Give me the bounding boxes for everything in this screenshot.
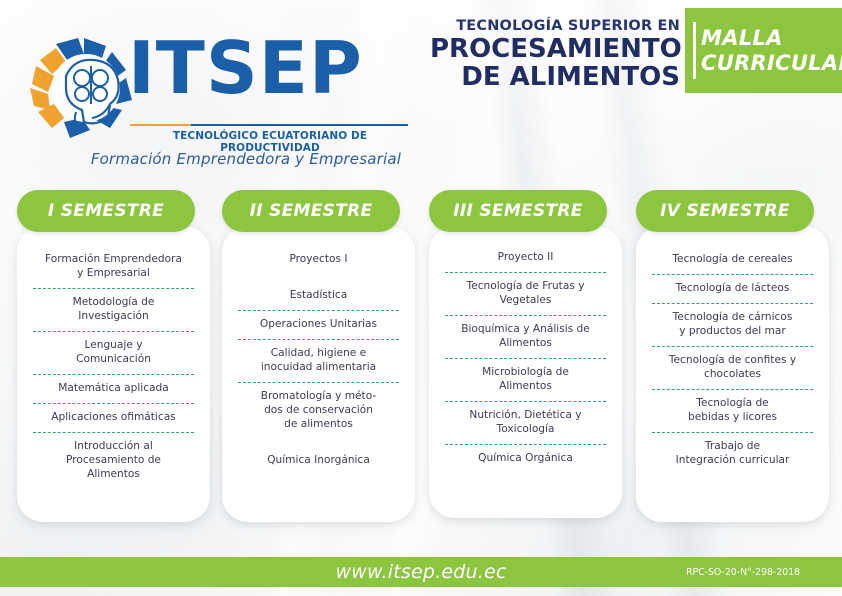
course-item: Tecnología debebidas y licores <box>646 392 819 430</box>
semester-column-3: III SEMESTRE Proyecto IITecnología de Fr… <box>429 190 622 232</box>
gear-head-brain-icon <box>26 34 142 146</box>
semester-column-1: I SEMESTRE Formación Emprendedoray Empre… <box>17 190 210 232</box>
badge-line1: MALLA <box>701 26 842 51</box>
course-item: Introducción alProcesamiento deAlimentos <box>27 435 200 487</box>
malla-curricular-badge: MALLA CURRICULAR <box>685 8 842 93</box>
course-item: Química Inorgánica <box>232 449 405 473</box>
course-spacer <box>232 272 405 284</box>
course-divider <box>652 303 813 304</box>
course-item: Estadística <box>232 284 405 308</box>
course-divider <box>238 339 399 340</box>
course-divider <box>445 315 606 316</box>
course-item: Tecnología de confites ychocolates <box>646 349 819 387</box>
semester-column-4: IV SEMESTRE Tecnología de cerealesTecnol… <box>636 190 829 232</box>
course-item: Química Orgánica <box>439 447 612 471</box>
course-item: Aplicaciones ofimáticas <box>27 406 200 430</box>
course-divider <box>33 331 194 332</box>
course-divider <box>652 389 813 390</box>
course-item: Metodología deInvestigación <box>27 291 200 329</box>
badge-line2: CURRICULAR <box>701 51 842 76</box>
semester-columns: I SEMESTRE Formación Emprendedoray Empre… <box>0 190 842 540</box>
brand-wordmark: ITSEP <box>128 32 363 104</box>
course-item: Proyecto II <box>439 246 612 270</box>
course-item: Tecnología de cárnicosy productos del ma… <box>646 306 819 344</box>
header: ITSEP TECNOLÓGICO ECUATORIANO DE PRODUCT… <box>0 0 842 180</box>
course-divider <box>33 288 194 289</box>
course-divider <box>445 358 606 359</box>
course-item: Trabajo deIntegración curricular <box>646 435 819 473</box>
course-item: Tecnología de cereales <box>646 248 819 272</box>
program-kicker: TECNOLOGÍA SUPERIOR EN <box>430 18 680 35</box>
course-item: Nutrición, Dietética yToxicología <box>439 404 612 442</box>
course-item: Tecnología de lácteos <box>646 277 819 301</box>
course-item: Matemática aplicada <box>27 377 200 401</box>
course-item: Bromatología y méto-dos de conservaciónd… <box>232 385 405 437</box>
program-title: TECNOLOGÍA SUPERIOR EN PROCESAMIENTO DE … <box>430 18 680 92</box>
program-title-line1: PROCESAMIENTO <box>430 35 680 63</box>
semester-card-1: Formación Emprendedoray EmpresarialMetod… <box>17 226 210 522</box>
course-divider <box>445 272 606 273</box>
semester-pill-3[interactable]: III SEMESTRE <box>429 190 607 232</box>
course-divider <box>238 310 399 311</box>
semester-pill-4[interactable]: IV SEMESTRE <box>636 190 814 232</box>
course-item: Tecnología de Frutas yVegetales <box>439 275 612 313</box>
course-divider <box>33 432 194 433</box>
semester-card-3: Proyecto IITecnología de Frutas yVegetal… <box>429 226 622 518</box>
semester-pill-2[interactable]: II SEMESTRE <box>222 190 400 232</box>
semester-column-2: II SEMESTRE Proyectos IEstadísticaOperac… <box>222 190 415 232</box>
course-divider <box>33 374 194 375</box>
course-item: Lenguaje yComunicación <box>27 334 200 372</box>
resolution-code: RPC-SO-20-N°-298-2018 <box>686 557 800 587</box>
course-item: Calidad, higiene einocuidad alimentaria <box>232 342 405 380</box>
course-item: Proyectos I <box>232 248 405 272</box>
course-item: Microbiología deAlimentos <box>439 361 612 399</box>
footer-bar: www.itsep.edu.ec RPC-SO-20-N°-298-2018 <box>0 557 842 587</box>
course-divider <box>445 444 606 445</box>
brand-tagline: Formación Emprendedora y Empresarial <box>76 150 416 168</box>
badge-divider-bar <box>693 22 696 79</box>
course-divider <box>445 401 606 402</box>
course-divider <box>652 432 813 433</box>
course-spacer <box>232 437 405 449</box>
program-title-line2: DE ALIMENTOS <box>430 63 680 91</box>
course-item: Operaciones Unitarias <box>232 313 405 337</box>
brand-rule <box>130 124 408 126</box>
course-divider <box>33 403 194 404</box>
semester-pill-1[interactable]: I SEMESTRE <box>17 190 195 232</box>
semester-card-4: Tecnología de cerealesTecnología de láct… <box>636 226 829 522</box>
brand-logo: ITSEP TECNOLÓGICO ECUATORIANO DE PRODUCT… <box>18 20 408 165</box>
course-divider <box>238 382 399 383</box>
course-divider <box>652 346 813 347</box>
semester-card-2: Proyectos IEstadísticaOperaciones Unitar… <box>222 226 415 522</box>
course-item: Formación Emprendedoray Empresarial <box>27 248 200 286</box>
course-divider <box>652 274 813 275</box>
course-item: Bioquímica y Análisis deAlimentos <box>439 318 612 356</box>
